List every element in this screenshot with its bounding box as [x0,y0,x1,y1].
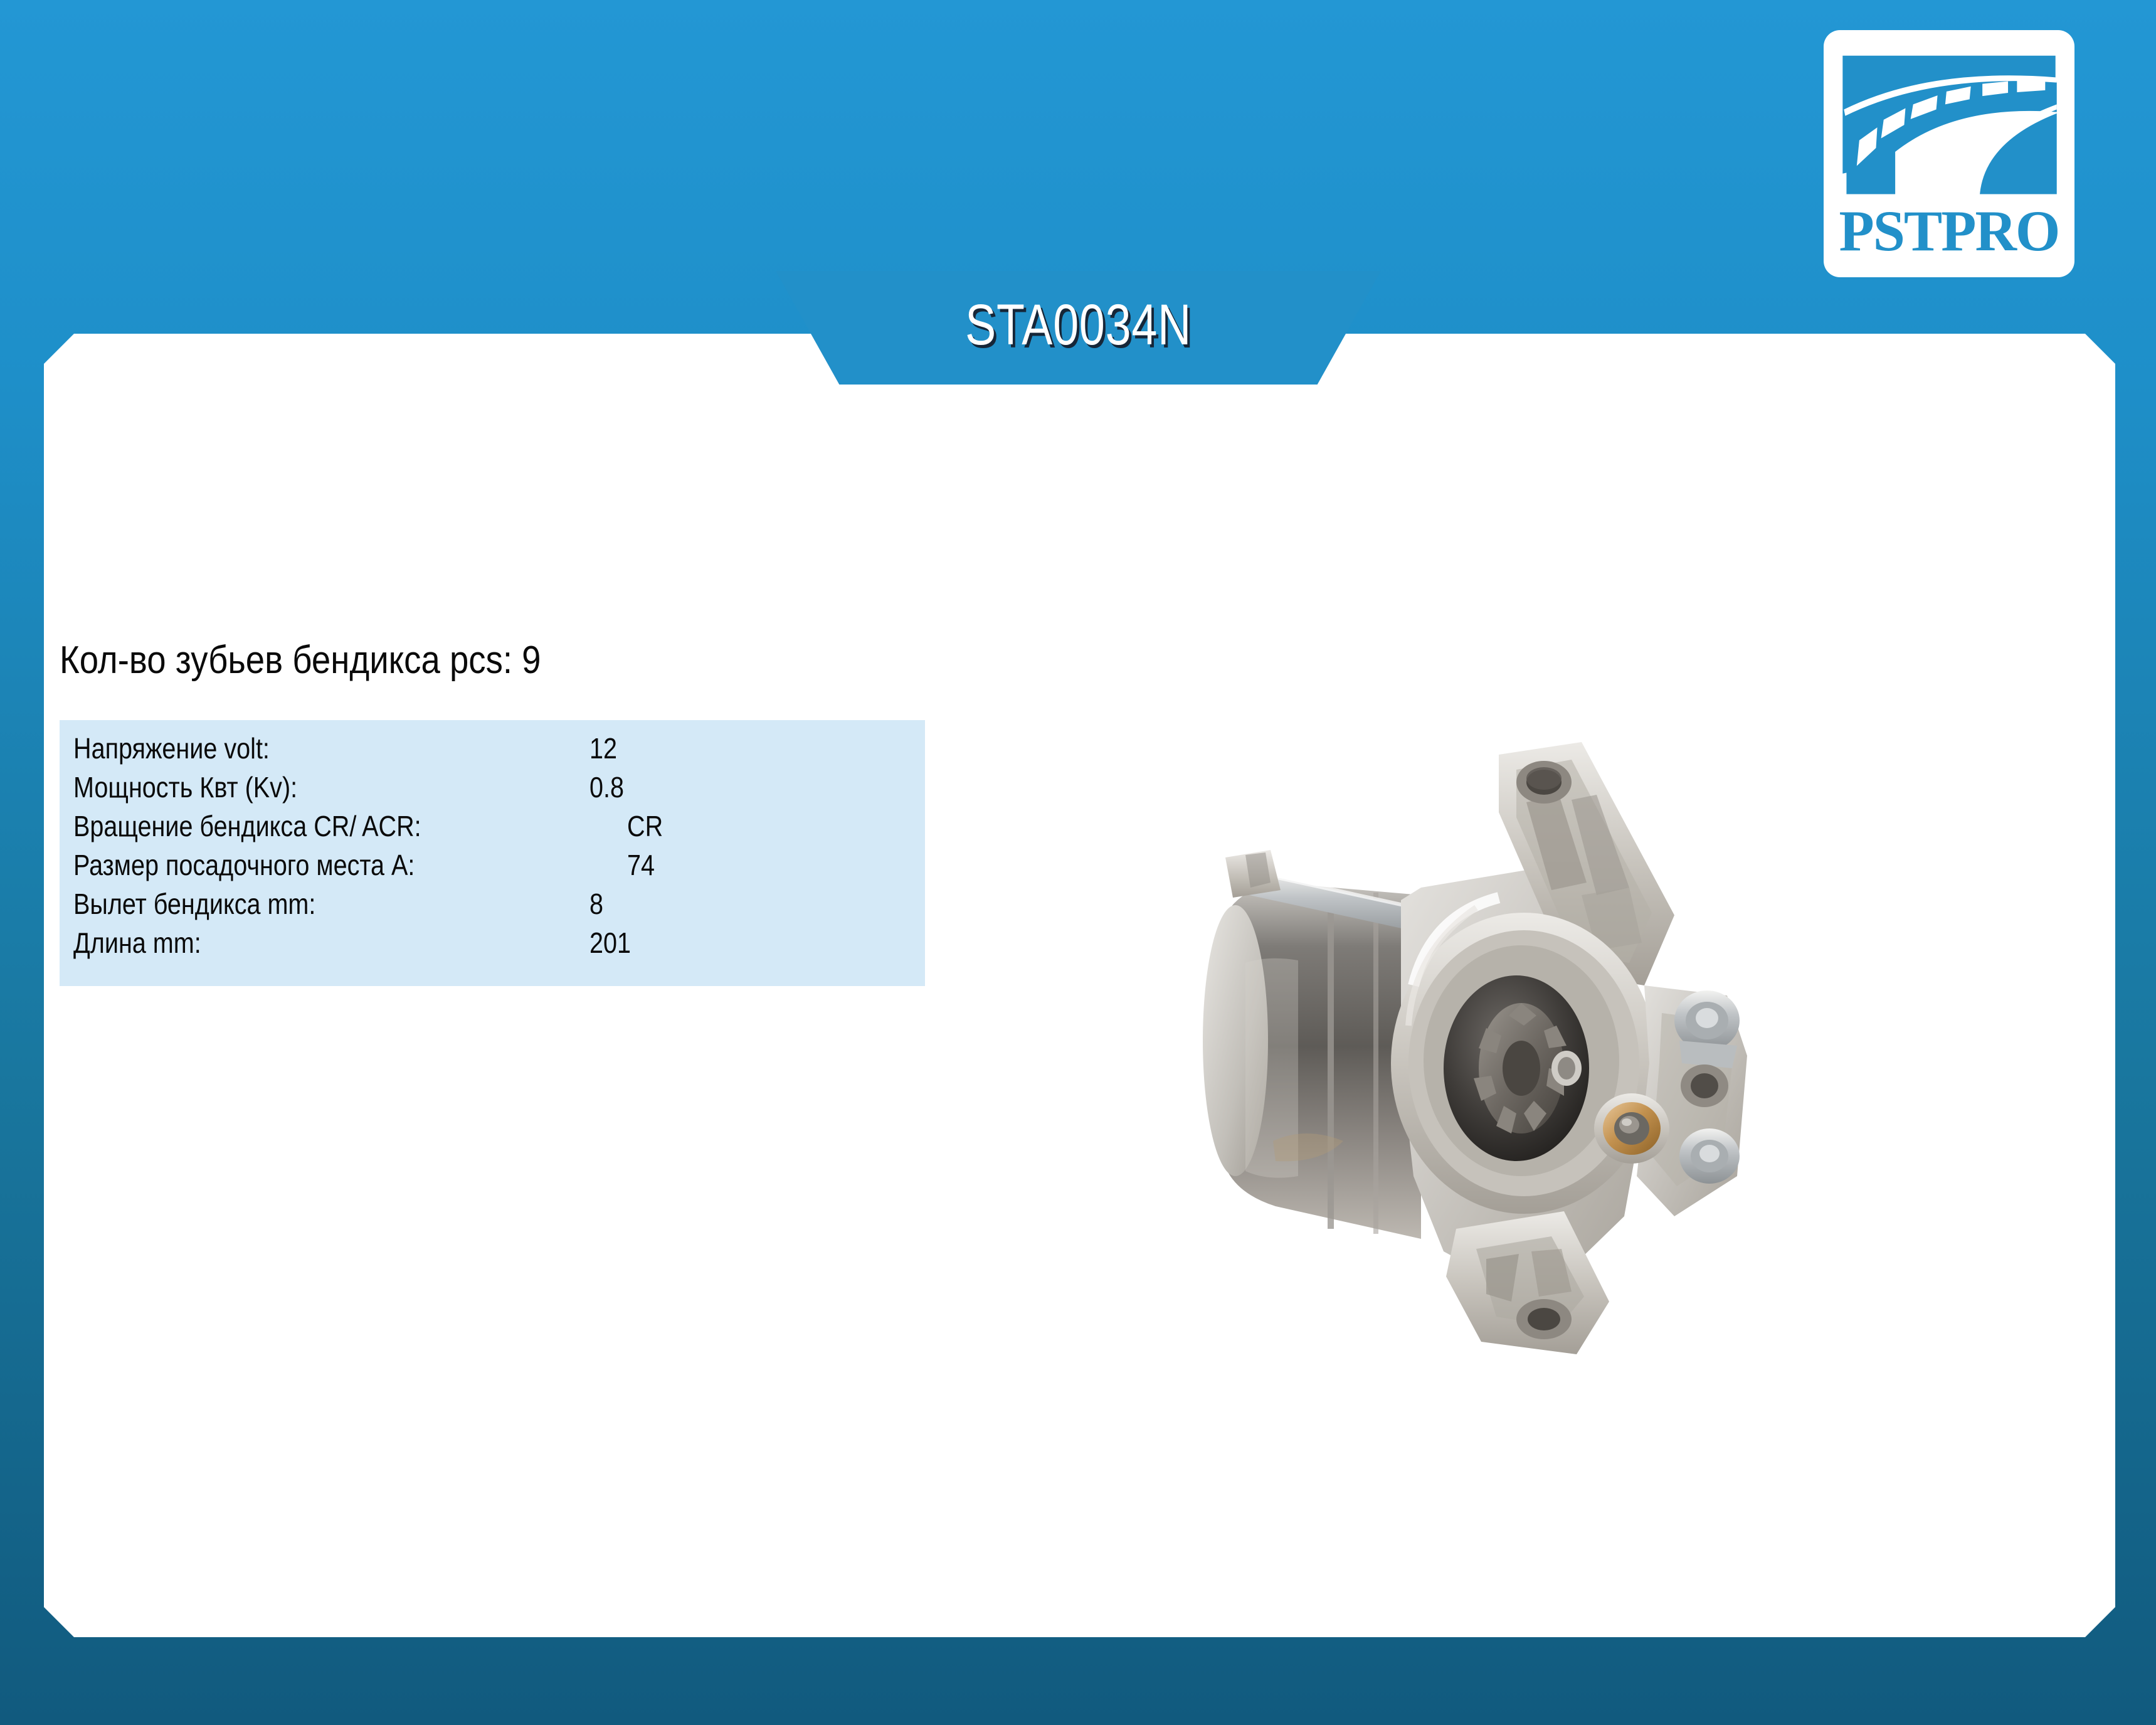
table-row: Напряжение volt: 12 [60,734,925,773]
spec-value: CR [627,812,663,841]
motor-housing [1203,883,1421,1239]
brand-wordmark: PSTPRO [1834,202,2064,260]
spec-label: Напряжение volt: [73,734,270,763]
brass-bushing [1594,1093,1669,1164]
spec-value: 8 [589,889,603,918]
table-row: Мощность Квт (Kv): 0.8 [60,773,925,812]
starter-motor-photo [1085,649,1975,1364]
terminal-stud-lower [1679,1128,1740,1184]
table-row: Длина mm: 201 [60,928,925,967]
part-number-banner: STA0034N [776,271,1381,385]
road-bridge-icon [1834,39,2064,206]
spec-label: Мощность Квт (Kv): [73,773,297,802]
table-row: Вылет бендикса mm: 8 [60,889,925,928]
table-row: Вращение бендикса CR/ ACR: CR [60,812,925,851]
drive-end-housing [1391,742,1674,1354]
spec-label: Размер посадочного места A: [73,851,415,879]
spec-value: 0.8 [589,773,624,802]
spec-value: 74 [627,851,655,879]
spec-label: Вращение бендикса CR/ ACR: [73,812,421,841]
specifications-table: Напряжение volt: 12 Мощность Квт (Kv): 0… [60,720,925,986]
table-row: Размер посадочного места A: 74 [60,851,925,889]
bendix-teeth-heading: Кол-во зубьев бендикса pcs: 9 [60,641,541,680]
spec-value: 12 [589,734,617,763]
spec-label: Длина mm: [73,928,201,957]
brand-logo: PSTPRO [1824,30,2074,277]
spec-value: 201 [589,928,631,957]
starter-motor-illustration [1085,649,1975,1364]
part-number-title: STA0034N [965,296,1192,360]
terminal-stud-upper [1674,990,1740,1068]
spec-label: Вылет бендикса mm: [73,889,315,918]
